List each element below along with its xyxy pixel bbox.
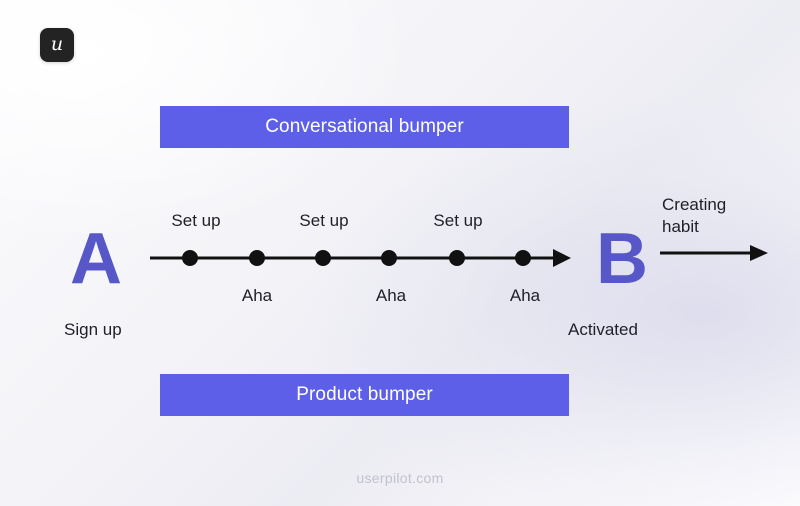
creating-habit-arrow (660, 243, 770, 263)
stage-b-letter: B (596, 223, 648, 295)
product-bumper-label: Product bumper (296, 384, 433, 406)
product-bumper-bar: Product bumper (160, 374, 569, 416)
milestone-dot (315, 250, 331, 266)
conversational-bumper-bar: Conversational bumper (160, 106, 569, 148)
stage-a-letter: A (70, 223, 122, 295)
logo-glyph: u (51, 35, 63, 56)
watermark: userpilot.com (0, 470, 800, 486)
milestone-label-aha: Aha (242, 286, 272, 306)
milestone-dot (381, 250, 397, 266)
milestone-label-setup: Set up (299, 211, 348, 231)
milestone-dot (449, 250, 465, 266)
conversational-bumper-label: Conversational bumper (265, 116, 464, 138)
diagram-canvas: u Conversational bumper A Sign up B Acti… (0, 0, 800, 506)
milestone-dot (182, 250, 198, 266)
journey-timeline (150, 240, 575, 276)
stage-b-caption: Activated (568, 320, 638, 340)
userpilot-logo-icon: u (40, 28, 74, 62)
creating-habit-label: Creating habit (662, 194, 738, 238)
creating-habit-block: Creating habit (662, 194, 782, 238)
timeline-arrow-icon (150, 240, 575, 276)
milestone-label-setup: Set up (171, 211, 220, 231)
milestone-dot (249, 250, 265, 266)
creating-habit-line1: Creating (662, 195, 726, 214)
creating-habit-line2: habit (662, 217, 699, 236)
milestone-dot (515, 250, 531, 266)
stage-a-caption: Sign up (64, 320, 122, 340)
milestone-label-setup: Set up (433, 211, 482, 231)
milestone-label-aha: Aha (376, 286, 406, 306)
milestone-label-aha: Aha (510, 286, 540, 306)
arrow-right-icon (660, 243, 770, 263)
